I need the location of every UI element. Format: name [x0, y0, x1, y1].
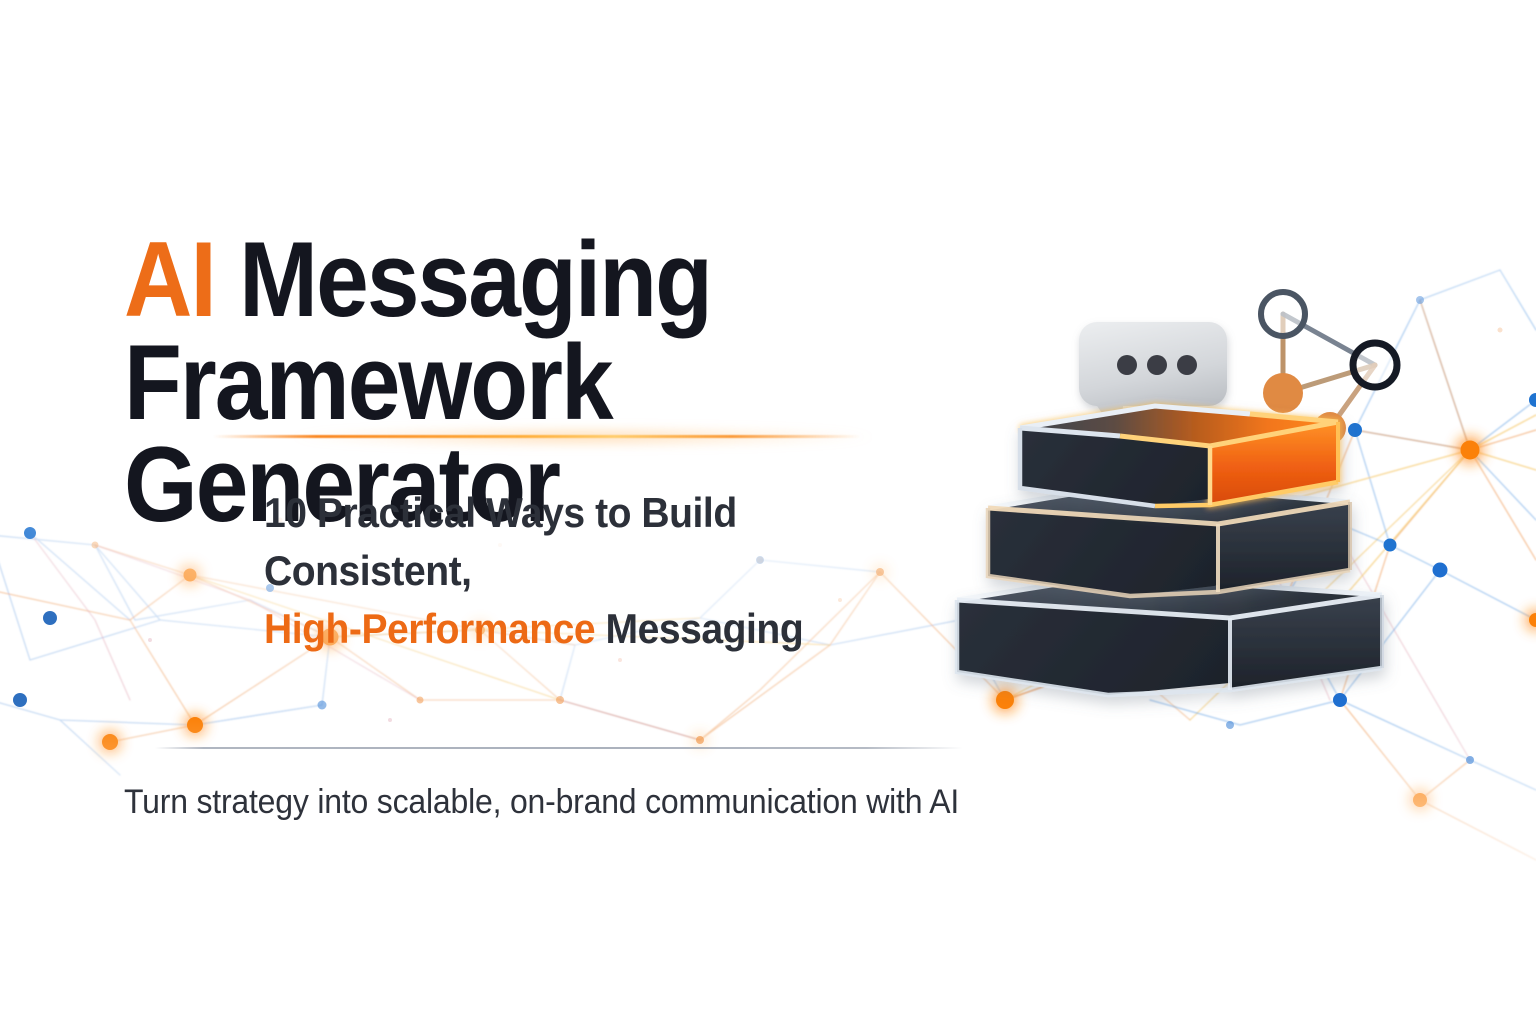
network-node-hollow-2	[1353, 343, 1397, 387]
chat-bubble-icon	[1079, 322, 1227, 440]
stacked-block-middle	[988, 484, 1350, 596]
network-cluster-icon	[1261, 292, 1397, 444]
horizontal-divider	[155, 747, 963, 749]
network-node-filled-1	[1263, 373, 1303, 413]
page-tagline: Turn strategy into scalable, on-brand co…	[124, 780, 1026, 824]
network-node-hollow-1	[1261, 292, 1305, 336]
hero-banner-canvas: AI Messaging FrameworkGenerator 10 Pract…	[0, 0, 1536, 1024]
stacked-block-top	[1020, 406, 1338, 506]
subtitle-line-1: 10 Practical Ways to Build Consistent,	[264, 489, 737, 594]
hero-illustration	[930, 270, 1460, 730]
stacked-block-bottom	[957, 576, 1382, 695]
subtitle-highlight: High-Performance	[264, 605, 595, 652]
subtitle-line-2-tail: Messaging	[595, 605, 803, 652]
page-subtitle: 10 Practical Ways to Build Consistent,Hi…	[264, 484, 952, 658]
typing-dots	[1117, 355, 1197, 375]
network-node-filled-2	[1314, 412, 1346, 444]
